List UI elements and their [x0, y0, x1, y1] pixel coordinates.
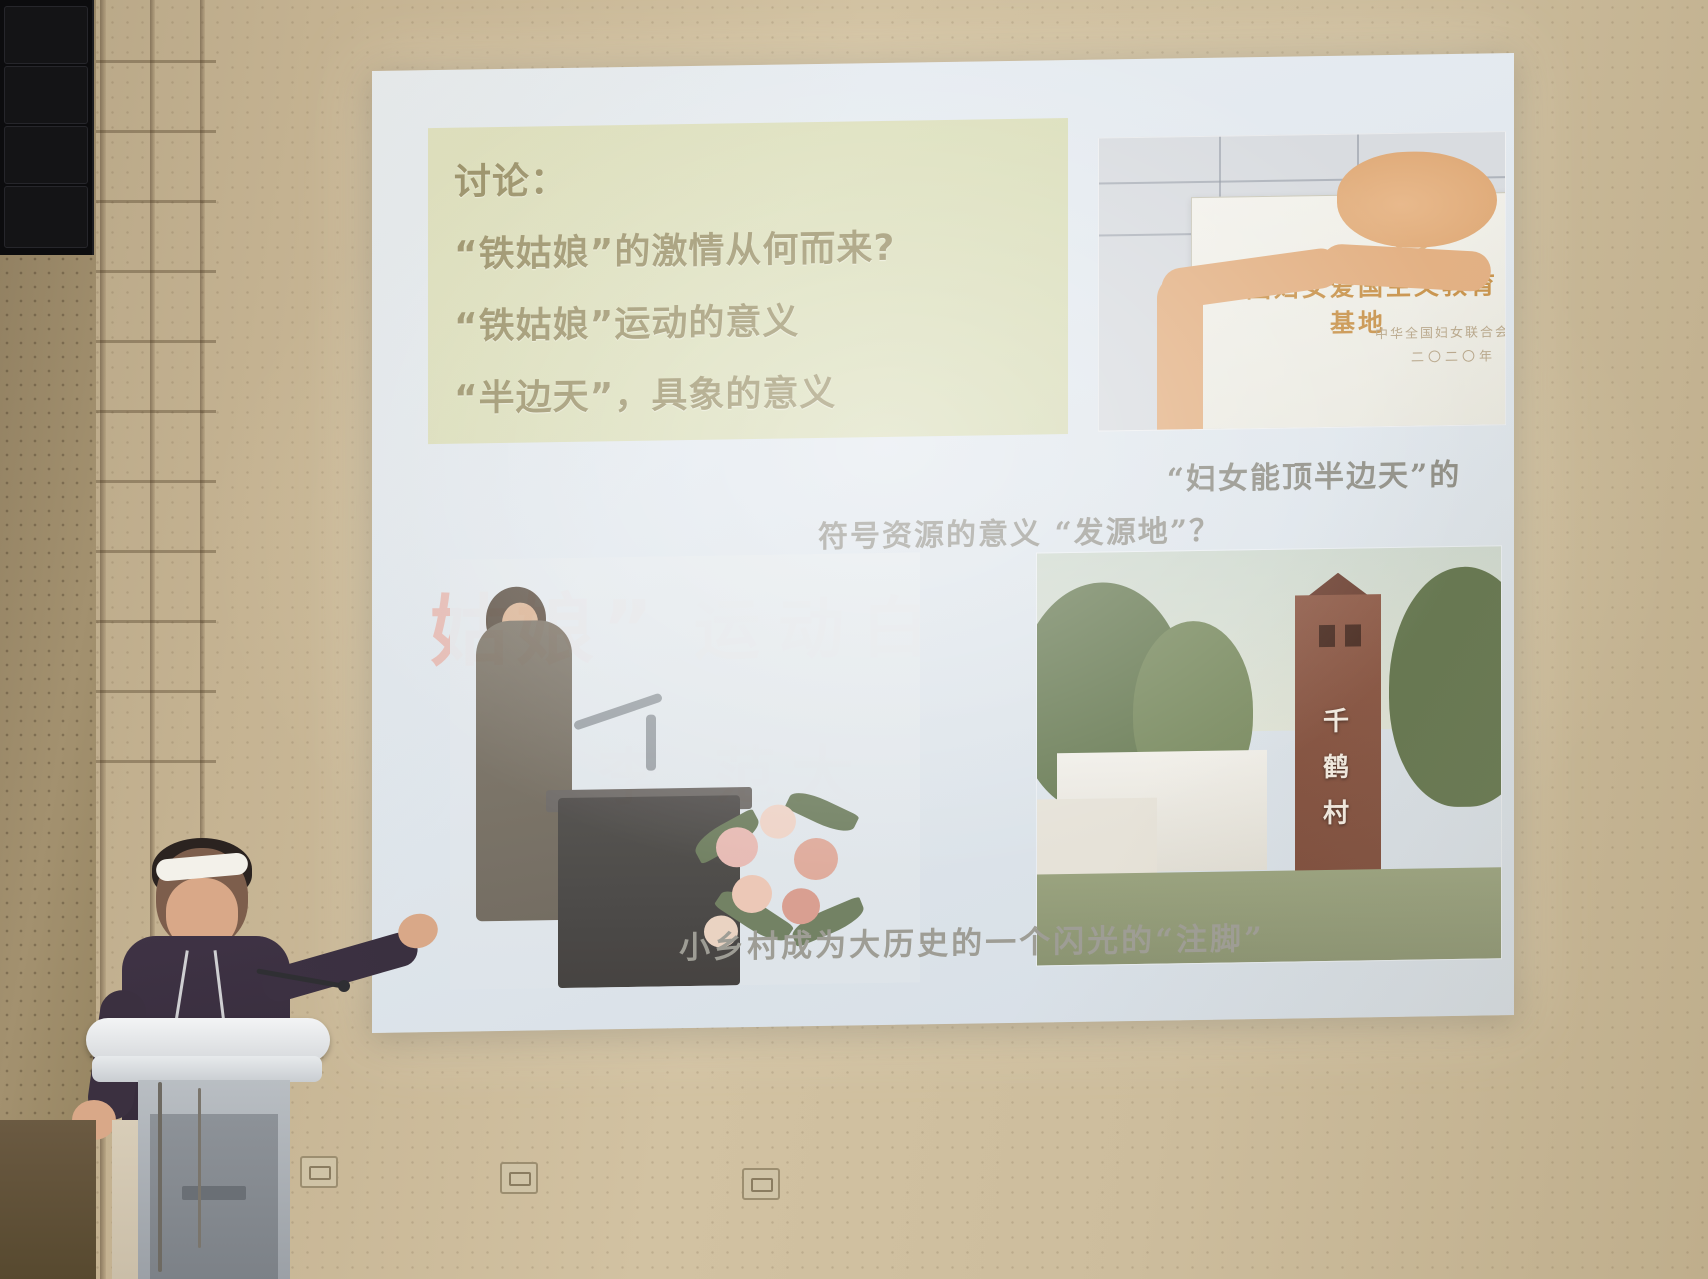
flower-bloom [716, 827, 758, 868]
headset-microphone-tip [338, 980, 350, 992]
forearm-left [1159, 246, 1343, 310]
wall-slat [96, 480, 216, 483]
lecture-hall-scene: 讨论： “铁姑娘”的激情从何而来? “铁姑娘”运动的意义 “半边天”，具象的意义… [0, 0, 1708, 1279]
wall-slat [96, 760, 216, 763]
photo-microphone-stand [646, 715, 656, 771]
discussion-line-1: “铁姑娘”的激情从何而来? [454, 216, 1042, 277]
wall-slat [96, 60, 216, 63]
projection-screen: 讨论： “铁姑娘”的激情从何而来? “铁姑娘”运动的意义 “半边天”，具象的意义… [372, 53, 1514, 1033]
discussion-title: 讨论： [454, 142, 1042, 205]
lectern-cable [198, 1088, 201, 1248]
lectern [86, 1018, 330, 1279]
flower-bloom [760, 804, 796, 839]
tower-window [1345, 624, 1361, 646]
wall-slat [96, 550, 216, 553]
speaker-array [0, 0, 94, 255]
tower-vertical-sign: 千鹤村 [1313, 698, 1361, 839]
wall-slat [96, 200, 216, 203]
wall-outlet [742, 1168, 780, 1200]
speaker-segment [4, 6, 88, 64]
forearm-right [1320, 243, 1492, 292]
hands-holding-plaque [1337, 150, 1497, 249]
speaker-segment [4, 66, 88, 124]
discussion-line-2: “铁姑娘”运动的意义 [454, 288, 1042, 349]
wall-slat [96, 620, 216, 623]
flower-leaf [784, 786, 859, 838]
speaker-segment [4, 186, 88, 248]
wall-slat [96, 690, 216, 693]
wall-slat [96, 410, 216, 413]
person-arms [1121, 154, 1506, 430]
flower-bloom [794, 838, 838, 881]
wall-outlet [500, 1162, 538, 1194]
plaque-photo: 全国妇女爱国主义教育基地 中华全国妇女联合会 二〇二〇年 [1098, 131, 1506, 431]
wall-slat [96, 340, 216, 343]
tower-window [1319, 625, 1335, 647]
village-photo: 千鹤村 [1036, 545, 1502, 966]
wall-slat [96, 130, 216, 133]
village-building [1037, 798, 1157, 880]
slide-discussion-box: 讨论： “铁姑娘”的激情从何而来? “铁姑娘”运动的意义 “半边天”，具象的意义 [428, 118, 1068, 444]
caption-banbiantian: “妇女能顶半边天”的 [1112, 449, 1514, 499]
front-row-desk-edge [0, 1120, 96, 1279]
lectern-cable [158, 1082, 162, 1272]
lectern-apron [92, 1056, 322, 1082]
lectern-logo-plate [182, 1186, 246, 1200]
wall-slat [96, 270, 216, 273]
speaker-segment [4, 126, 88, 184]
discussion-line-3: “半边天”，具象的意义 [454, 360, 1042, 421]
